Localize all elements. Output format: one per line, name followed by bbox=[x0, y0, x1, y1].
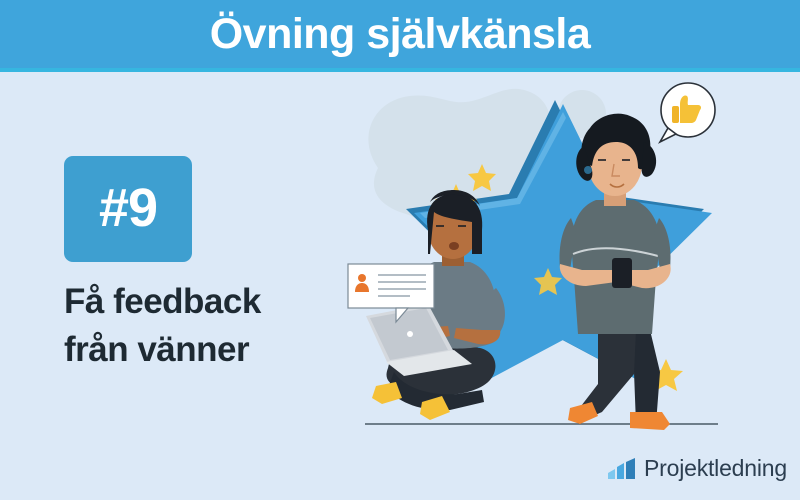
shoe-right bbox=[630, 412, 670, 430]
exercise-number-label: #9 bbox=[64, 156, 192, 262]
thumbs-up-bubble bbox=[660, 83, 715, 142]
exercise-subtitle: Få feedback från vänner bbox=[64, 278, 364, 374]
exercise-subtitle-line-2: från vänner bbox=[64, 326, 364, 374]
illustration bbox=[330, 72, 800, 460]
exercise-subtitle-line-1: Få feedback bbox=[64, 278, 364, 326]
brand-logo[interactable]: Projektledning bbox=[607, 455, 787, 482]
exercise-number-badge: #9 bbox=[64, 156, 192, 262]
brand-name: Projektledning bbox=[644, 455, 787, 482]
phone bbox=[612, 258, 632, 288]
poster: Övning självkänsla #9 Få feedback från v… bbox=[0, 0, 800, 500]
page-title: Övning självkänsla bbox=[0, 0, 800, 68]
bar-chart-icon bbox=[607, 458, 637, 480]
header-banner: Övning självkänsla bbox=[0, 0, 800, 72]
